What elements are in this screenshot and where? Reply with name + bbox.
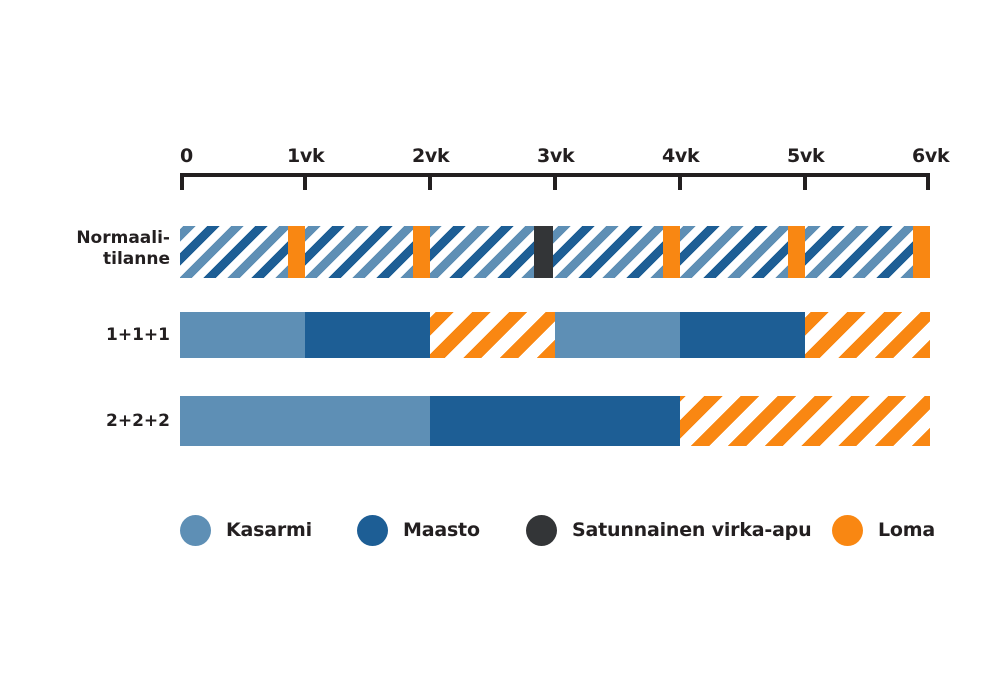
segment-loma-hatch xyxy=(680,396,930,446)
legend-label-virka-apu: Satunnainen virka-apu xyxy=(572,519,811,541)
axis-tick-6 xyxy=(926,173,930,190)
legend-label-kasarmi: Kasarmi xyxy=(226,519,312,541)
bar-row-1plus1plus1 xyxy=(180,312,930,358)
segment-mixed xyxy=(305,226,413,278)
segment-mixed xyxy=(553,226,663,278)
legend-swatch-maasto-icon xyxy=(357,515,388,546)
row-label-line2: tilanne xyxy=(103,249,170,269)
segment-loma-hatch xyxy=(430,312,555,358)
legend-item-virka-apu: Satunnainen virka-apu xyxy=(526,508,811,552)
segment-loma xyxy=(288,226,306,278)
segment-maasto xyxy=(305,312,430,358)
axis-tick-label-4: 4vk xyxy=(662,145,699,167)
row-label-line1: 1+1+1 xyxy=(20,325,170,346)
segment-loma xyxy=(413,226,431,278)
segment-mixed xyxy=(805,226,913,278)
segment-mixed xyxy=(180,226,288,278)
axis-tick-label-6: 6vk xyxy=(912,145,949,167)
row-label-line1: 2+2+2 xyxy=(20,411,170,432)
segment-maasto xyxy=(680,312,805,358)
legend-label-loma: Loma xyxy=(878,519,935,541)
legend-swatch-virka-apu-icon xyxy=(526,515,557,546)
segment-loma-hatch xyxy=(805,312,930,358)
axis-tick-label-2: 2vk xyxy=(412,145,449,167)
legend-item-kasarmi: Kasarmi xyxy=(180,508,312,552)
segment-mixed xyxy=(680,226,788,278)
legend-item-loma: Loma xyxy=(832,508,935,552)
axis-tick-4 xyxy=(678,173,682,190)
segment-loma xyxy=(663,226,681,278)
legend-item-maasto: Maasto xyxy=(357,508,480,552)
segment-kasarmi xyxy=(180,312,305,358)
segment-mixed xyxy=(430,226,534,278)
segment-kasarmi xyxy=(555,312,680,358)
timeline-chart: 0 1vk 2vk 3vk 4vk 5vk 6vk Normaali- tila… xyxy=(0,0,1000,682)
axis-tick-label-0: 0 xyxy=(180,145,193,167)
legend-swatch-kasarmi-icon xyxy=(180,515,211,546)
axis-tick-0 xyxy=(180,173,184,190)
axis-tick-5 xyxy=(803,173,807,190)
bar-row-2plus2plus2 xyxy=(180,396,930,446)
chart-legend: Kasarmi Maasto Satunnainen virka-apu Lom… xyxy=(180,508,960,552)
row-label-line1: Normaali- xyxy=(76,228,170,248)
segment-loma xyxy=(913,226,931,278)
axis-tick-3 xyxy=(553,173,557,190)
axis-tick-label-5: 5vk xyxy=(787,145,824,167)
x-axis: 0 1vk 2vk 3vk 4vk 5vk 6vk xyxy=(180,145,930,190)
segment-maasto xyxy=(430,396,680,446)
segment-kasarmi xyxy=(180,396,430,446)
segment-virka-apu xyxy=(534,226,553,278)
bar-row-normaalitilanne xyxy=(180,226,930,278)
legend-swatch-loma-icon xyxy=(832,515,863,546)
axis-tick-label-3: 3vk xyxy=(537,145,574,167)
axis-tick-label-1: 1vk xyxy=(287,145,324,167)
axis-tick-2 xyxy=(428,173,432,190)
axis-tick-1 xyxy=(303,173,307,190)
legend-label-maasto: Maasto xyxy=(403,519,480,541)
segment-loma xyxy=(788,226,806,278)
